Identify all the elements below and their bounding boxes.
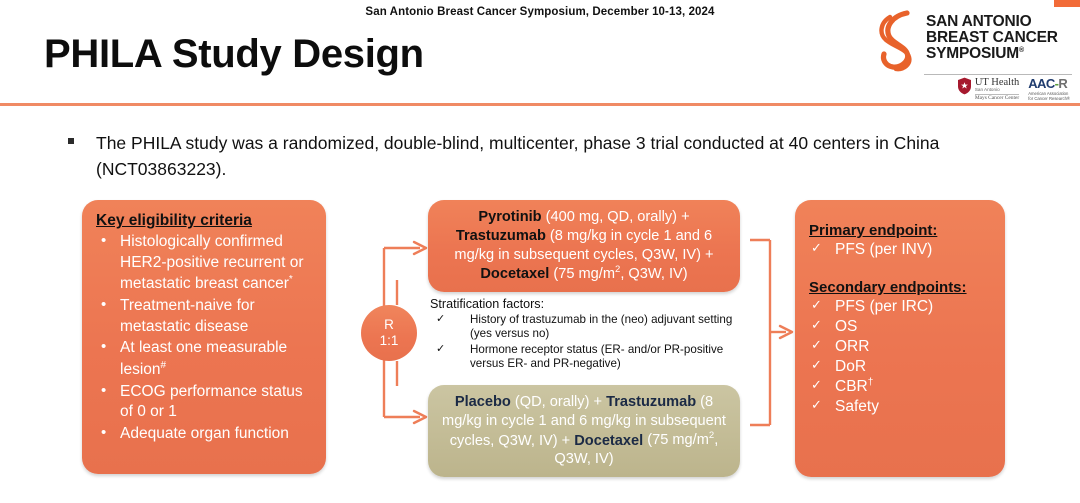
ut-health-logo: UT Health San Antonio Mays Cancer Center xyxy=(957,77,1019,102)
endpoint-item: ✓OS xyxy=(809,317,995,337)
intro-bullet-text: The PHILA study was a randomized, double… xyxy=(96,130,968,183)
sabcs-logo: SAN ANTONIO BREAST CANCER SYMPOSIUM® UT … xyxy=(876,12,1072,98)
footnote-marker: † xyxy=(868,377,874,388)
randomization-node: R 1:1 xyxy=(361,305,417,361)
stratification-title: Stratification factors: xyxy=(430,297,750,311)
drug-dose: (400 mg, QD, orally) + xyxy=(542,209,690,225)
bullet-square-icon xyxy=(68,138,74,144)
stratification-item: ✓History of trastuzumab in the (neo) adj… xyxy=(430,313,750,341)
drug-name: Docetaxel xyxy=(480,266,549,282)
logo-line-1: SAN ANTONIO xyxy=(926,14,1058,30)
aacr-logo: AAC-R American Association for Cancer Re… xyxy=(1028,77,1070,102)
endpoint-item-text: PFS (per IRC) xyxy=(835,297,933,317)
eligibility-item: At least one measurable lesion# xyxy=(94,338,314,380)
shield-icon xyxy=(957,77,972,95)
check-icon: ✓ xyxy=(811,377,821,397)
drug-dose: (QD, orally) + xyxy=(511,394,602,410)
drug-name: Docetaxel xyxy=(574,432,643,448)
endpoint-item-text: PFS (per INV) xyxy=(835,240,932,260)
secondary-endpoint-heading: Secondary endpoints: xyxy=(809,279,995,296)
stratification-item: ✓Hormone receptor status (ER- and/or PR-… xyxy=(430,343,750,371)
drug-name: Trastuzumab xyxy=(456,228,546,244)
check-icon: ✓ xyxy=(430,343,470,371)
primary-endpoint-heading: Primary endpoint: xyxy=(809,222,995,239)
eligibility-item: Histologically confirmed HER2-positive r… xyxy=(94,232,314,295)
randomization-ratio: 1:1 xyxy=(380,333,399,349)
randomization-label: R xyxy=(384,317,394,333)
ut-health-city: San Antonio xyxy=(975,88,1019,93)
footnote-marker: * xyxy=(289,274,293,285)
footnote-marker: # xyxy=(161,360,167,371)
endpoint-item-text: Safety xyxy=(835,397,879,417)
arm-experimental-text: Pyrotinib (400 mg, QD, orally) + Trastuz… xyxy=(438,208,730,284)
treatment-arm-experimental: Pyrotinib (400 mg, QD, orally) + Trastuz… xyxy=(428,200,740,292)
drug-name: Placebo xyxy=(455,394,511,410)
check-icon: ✓ xyxy=(811,240,821,260)
eligibility-item: Treatment-naive for metastatic disease xyxy=(94,296,314,337)
eligibility-heading: Key eligibility criteria xyxy=(96,212,314,230)
endpoint-item: ✓Safety xyxy=(809,397,995,417)
slide-root: San Antonio Breast Cancer Symposium, Dec… xyxy=(0,0,1080,503)
primary-endpoint-list: ✓PFS (per INV) xyxy=(809,240,995,260)
drug-name: Pyrotinib xyxy=(478,209,541,225)
stratification-block: Stratification factors: ✓History of tras… xyxy=(430,297,750,374)
endpoint-item: ✓ORR xyxy=(809,337,995,357)
endpoint-item-text: OS xyxy=(835,317,857,337)
endpoints-card: Primary endpoint: ✓PFS (per INV) Seconda… xyxy=(795,200,1005,477)
check-icon: ✓ xyxy=(811,357,821,377)
check-icon: ✓ xyxy=(811,337,821,357)
eligibility-card: Key eligibility criteria Histologically … xyxy=(82,200,326,474)
drug-name: Trastuzumab xyxy=(606,394,696,410)
arm-control-text: Placebo (QD, orally) + Trastuzumab (8 mg… xyxy=(438,393,730,469)
check-icon: ✓ xyxy=(811,317,821,337)
treatment-arm-control: Placebo (QD, orally) + Trastuzumab (8 mg… xyxy=(428,385,740,477)
aacr-letters: AAC xyxy=(1028,76,1054,91)
endpoint-item: ✓PFS (per INV) xyxy=(809,240,995,260)
check-icon: ✓ xyxy=(430,313,470,341)
eligibility-list: Histologically confirmed HER2-positive r… xyxy=(94,232,314,444)
drug-dose: (75 mg/m2, Q3W, IV) xyxy=(549,266,687,282)
endpoint-item: ✓DoR xyxy=(809,357,995,377)
endpoint-item: ✓PFS (per IRC) xyxy=(809,297,995,317)
endpoint-spacer xyxy=(809,260,995,279)
logo-line-2: BREAST CANCER xyxy=(926,30,1058,46)
check-icon: ✓ xyxy=(811,297,821,317)
eligibility-item: Adequate organ function xyxy=(94,424,314,445)
stratification-item-text: Hormone receptor status (ER- and/or PR-p… xyxy=(470,343,750,371)
eligibility-item: ECOG performance status of 0 or 1 xyxy=(94,382,314,423)
endpoint-item-text: DoR xyxy=(835,357,866,377)
logo-line-3: SYMPOSIUM® xyxy=(926,46,1058,62)
endpoint-item-text: CBR† xyxy=(835,377,873,397)
stratification-item-text: History of trastuzumab in the (neo) adju… xyxy=(470,313,750,341)
secondary-endpoint-list: ✓PFS (per IRC)✓OS✓ORR✓DoR✓CBR†✓Safety xyxy=(809,297,995,417)
endpoint-item: ✓CBR† xyxy=(809,377,995,397)
check-icon: ✓ xyxy=(811,397,821,417)
stratification-list: ✓History of trastuzumab in the (neo) adj… xyxy=(430,313,750,372)
intro-bullet-row: The PHILA study was a randomized, double… xyxy=(68,130,968,183)
page-title: PHILA Study Design xyxy=(44,32,424,77)
ribbon-icon xyxy=(876,10,922,72)
aacr-r: R xyxy=(1058,76,1067,91)
ut-health-center: Mays Cancer Center xyxy=(975,94,1019,102)
logo-divider xyxy=(924,74,1072,75)
aacr-sub-2: for Cancer Research® xyxy=(1028,96,1070,101)
endpoint-item-text: ORR xyxy=(835,337,869,357)
title-divider xyxy=(0,103,1080,106)
